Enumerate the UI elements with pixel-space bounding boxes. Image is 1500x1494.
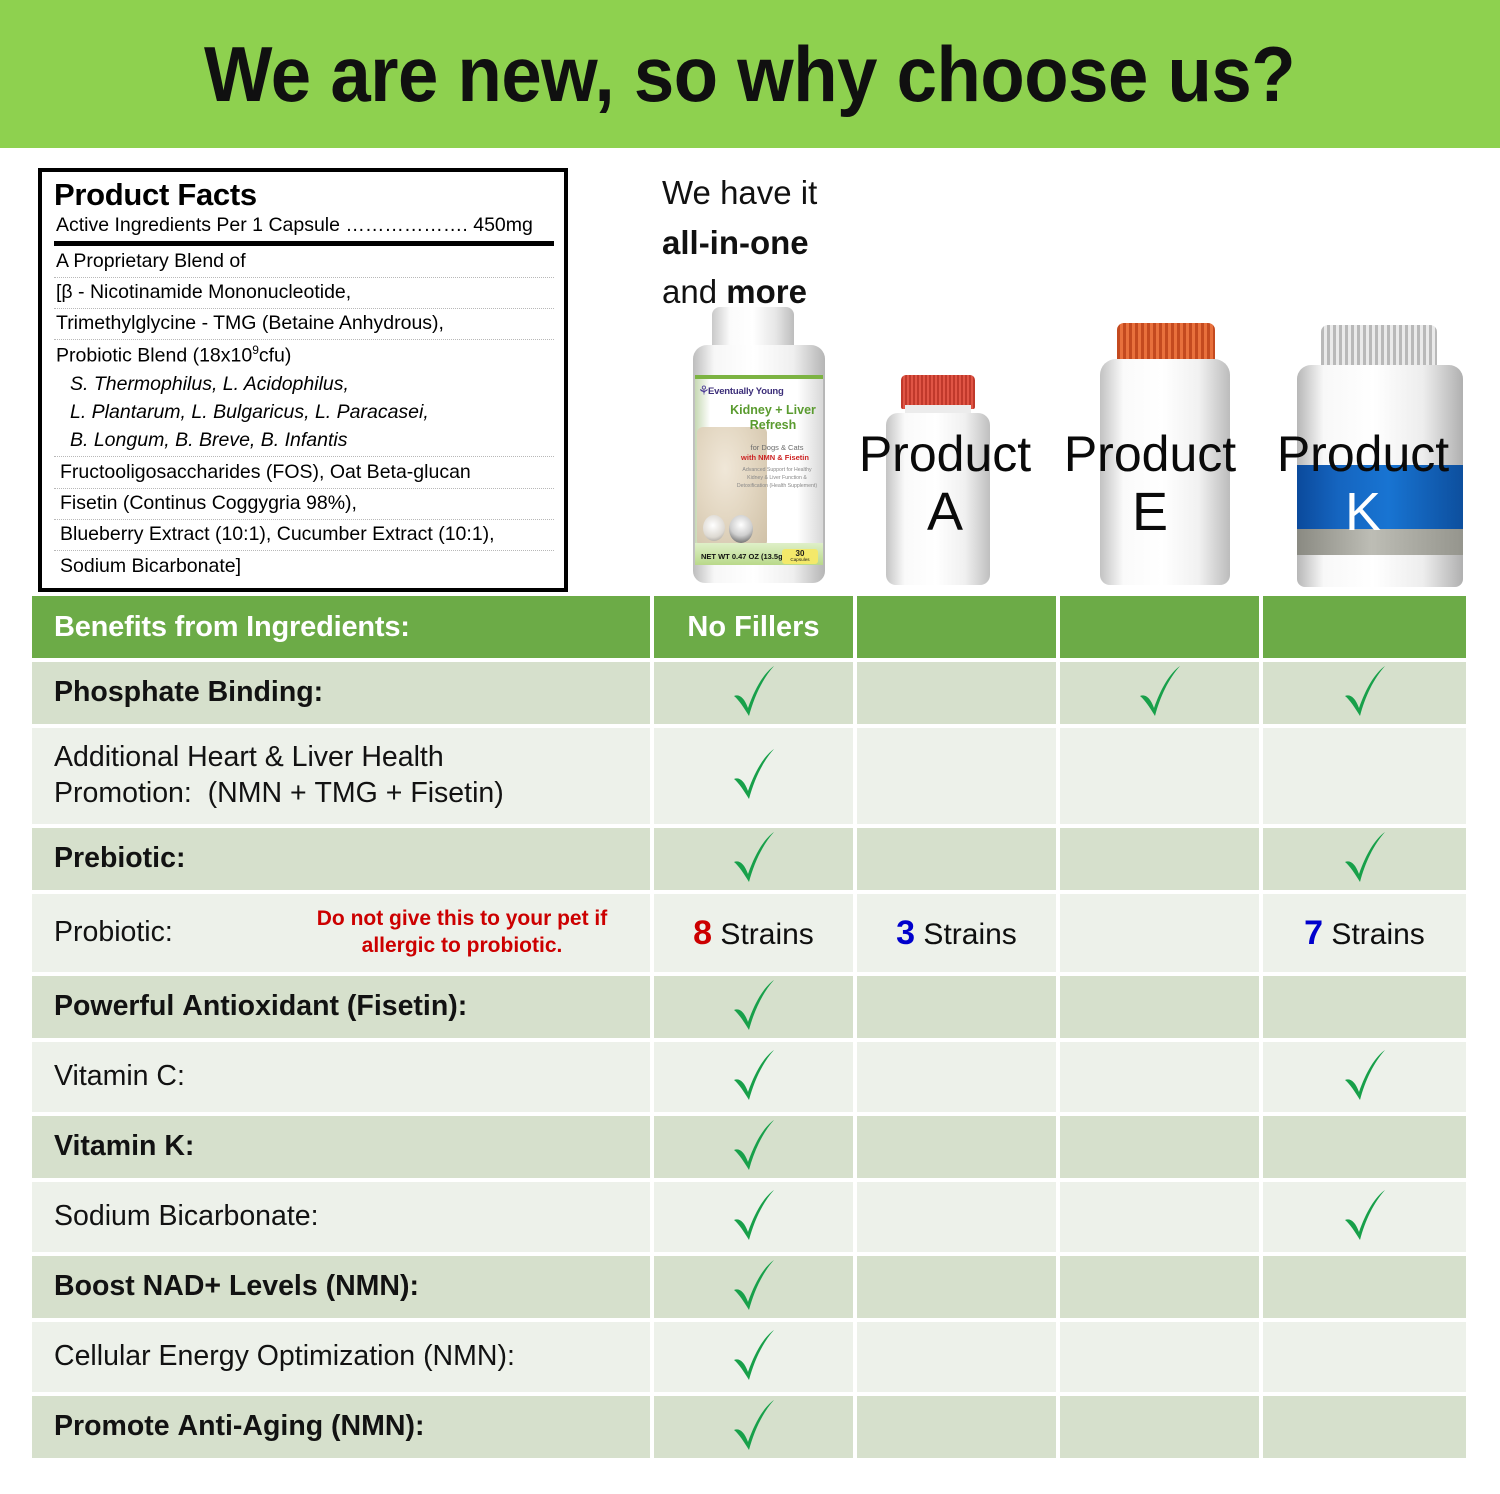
table-row: Sodium Bicarbonate:: [32, 1182, 1466, 1252]
row-label: Probiotic:: [54, 915, 173, 951]
row-label-cell: Promote Anti-Aging (NMN):: [32, 1396, 654, 1458]
row-label-cell: Probiotic:Do not give this to your pet i…: [32, 894, 654, 972]
product-facts-serving: Active Ingredients Per 1 Capsule ……………….…: [54, 213, 554, 240]
checkmark-icon: [1134, 664, 1186, 722]
row-cell-col4: [1263, 728, 1466, 824]
bottle-label: ⚘ Eventually Young Kidney + Liver Refres…: [695, 375, 823, 565]
label-net-weight: NET WT 0.47 OZ (13.5g): [701, 552, 785, 561]
table-row: Additional Heart & Liver HealthPromotion…: [32, 728, 1466, 824]
row-cell-col2: 3 Strains: [857, 894, 1060, 972]
product-facts-box: Product Facts Active Ingredients Per 1 C…: [38, 168, 568, 592]
row-cell-col4: [1263, 1116, 1466, 1178]
row-cell-col4: [1263, 1256, 1466, 1318]
table-row: Powerful Antioxidant (Fisetin):: [32, 976, 1466, 1038]
facts-strain-line-2: L. Plantarum, L. Bulgaricus, L. Paracase…: [54, 397, 554, 425]
product-k-letter: K: [1263, 479, 1463, 547]
product-k-word: Product: [1263, 429, 1463, 479]
row-cell-col1: [654, 728, 857, 824]
checkmark-icon: [728, 1258, 780, 1316]
row-cell-col2: [857, 1322, 1060, 1392]
checkmark-icon: [1339, 1188, 1391, 1246]
row-cell-col3: [1060, 976, 1263, 1038]
hero-copy: We have it all-in-one and more: [662, 168, 817, 317]
row-label: Additional Heart & Liver HealthPromotion…: [54, 740, 504, 811]
facts-strain-line-3: B. Longum, B. Breve, B. Infantis: [54, 426, 554, 457]
product-e-letter: E: [1060, 479, 1240, 547]
row-cell-col2: [857, 828, 1060, 890]
row-label: Prebiotic:: [54, 841, 185, 877]
facts-line-probiotic-blend: Probiotic Blend (18x109cfu): [54, 340, 554, 369]
row-label-cell: Additional Heart & Liver HealthPromotion…: [32, 728, 654, 824]
row-label-cell: Vitamin C:: [32, 1042, 654, 1112]
product-name-line2: Refresh: [750, 418, 797, 432]
checkmark-icon: [728, 978, 780, 1036]
strain-number: 3: [896, 914, 915, 952]
bottle-a-cap: [901, 375, 975, 409]
row-label: Promote Anti-Aging (NMN):: [54, 1409, 424, 1445]
strain-unit: Strains: [712, 918, 814, 951]
product-name: Kidney + Liver Refresh: [727, 403, 819, 434]
hero-line-3-bold: more: [726, 273, 807, 310]
table-header-row: Benefits from Ingredients: No Fillers: [32, 596, 1466, 658]
row-cell-col3: [1060, 1042, 1263, 1112]
checkmark-icon: [728, 664, 780, 722]
row-cell-col2: [857, 1116, 1060, 1178]
checkmark-icon: [1339, 664, 1391, 722]
row-cell-col4: [1263, 1042, 1466, 1112]
header-banner: We are new, so why choose us?: [0, 0, 1500, 148]
row-cell-col2: [857, 1182, 1060, 1252]
row-label-cell: Sodium Bicarbonate:: [32, 1182, 654, 1252]
row-cell-col1: [654, 1116, 857, 1178]
strain-number: 8: [693, 914, 712, 952]
page-title: We are new, so why choose us?: [204, 29, 1295, 120]
row-cell-col3: [1060, 1116, 1263, 1178]
hero-line-2: all-in-one: [662, 218, 817, 268]
capsule-count-unit: Capsules: [782, 558, 818, 563]
facts-line-sodium-bicarb: Sodium Bicarbonate]: [54, 551, 554, 581]
facts-line-tmg: Trimethylglycine - TMG (Betaine Anhydrou…: [54, 309, 554, 340]
row-cell-col4: [1263, 828, 1466, 890]
probiotic-cfu-text: cfu): [259, 344, 292, 366]
row-cell-col2: [857, 976, 1060, 1038]
row-label: Vitamin C:: [54, 1059, 185, 1095]
probiotic-warning: Do not give this to your pet if allergic…: [282, 906, 642, 960]
row-cell-col4: [1263, 1322, 1466, 1392]
product-name-line1: Kidney + Liver: [730, 403, 816, 417]
row-label-cell: Prebiotic:: [32, 828, 654, 890]
row-cell-col2: [857, 728, 1060, 824]
table-row: Vitamin K:: [32, 1116, 1466, 1178]
label-audience: for Dogs & Cats: [735, 443, 819, 452]
row-cell-col1: [654, 1182, 857, 1252]
checkmark-icon: [728, 1328, 780, 1386]
header-col-product-e: [1060, 596, 1263, 658]
row-cell-col2: [857, 1396, 1060, 1458]
row-label: Vitamin K:: [54, 1129, 194, 1165]
product-e-label: Product E: [1060, 429, 1240, 547]
row-cell-col3: [1060, 894, 1263, 972]
probiotic-blend-text: Probiotic Blend (18x10: [56, 344, 252, 366]
facts-line-fisetin: Fisetin (Continus Coggygria 98%),: [54, 489, 554, 520]
checkmark-icon: [728, 1188, 780, 1246]
row-cell-col1: [654, 1322, 857, 1392]
row-cell-col4: [1263, 662, 1466, 724]
row-cell-col2: [857, 1256, 1060, 1318]
row-label: Sodium Bicarbonate:: [54, 1199, 319, 1235]
table-row: Probiotic:Do not give this to your pet i…: [32, 894, 1466, 972]
row-label-cell: Cellular Energy Optimization (NMN):: [32, 1322, 654, 1392]
row-cell-col3: [1060, 1256, 1263, 1318]
checkmark-icon: [1339, 830, 1391, 888]
strain-count: 8 Strains: [693, 914, 814, 953]
label-capsule-count: 30Capsules: [782, 549, 818, 564]
table-row: Boost NAD+ Levels (NMN):: [32, 1256, 1466, 1318]
checkmark-icon: [728, 1048, 780, 1106]
header-col-product-k: [1263, 596, 1466, 658]
row-cell-col1: [654, 662, 857, 724]
row-cell-col4: [1263, 1182, 1466, 1252]
header-col-product-a: [857, 596, 1060, 658]
label-fine-print: Advanced Support for Healthy Kidney & Li…: [735, 467, 819, 490]
row-label-cell: Boost NAD+ Levels (NMN):: [32, 1256, 654, 1318]
table-row: Vitamin C:: [32, 1042, 1466, 1112]
checkmark-icon: [728, 747, 780, 805]
table-row: Promote Anti-Aging (NMN):: [32, 1396, 1466, 1458]
row-cell-col3: [1060, 1322, 1263, 1392]
label-with-nmn: with NMN & Fisetin: [731, 453, 819, 462]
header-col-our-product: No Fillers: [654, 596, 857, 658]
row-cell-col4: [1263, 976, 1466, 1038]
row-cell-col1: 8 Strains: [654, 894, 857, 972]
row-label-cell: Phosphate Binding:: [32, 662, 654, 724]
checkmark-icon: [1339, 1048, 1391, 1106]
row-label: Powerful Antioxidant (Fisetin):: [54, 989, 467, 1025]
row-cell-col4: [1263, 1396, 1466, 1458]
strain-count: 7 Strains: [1304, 914, 1425, 953]
row-cell-col1: [654, 1396, 857, 1458]
row-label-cell: Powerful Antioxidant (Fisetin):: [32, 976, 654, 1038]
product-facts-title: Product Facts: [54, 178, 554, 213]
hero-bottles-area: We have it all-in-one and more ⚘ Eventua…: [655, 165, 1475, 585]
table-row: Phosphate Binding:: [32, 662, 1466, 724]
facts-line-blend: A Proprietary Blend of: [54, 246, 554, 277]
checkmark-icon: [728, 1398, 780, 1456]
bottle-eventually-young: ⚘ Eventually Young Kidney + Liver Refres…: [685, 307, 835, 585]
comparison-table: Benefits from Ingredients: No Fillers Ph…: [32, 596, 1466, 1462]
facts-strain-line-1: S. Thermophilus, L. Acidophilus,: [54, 369, 554, 397]
row-cell-col1: [654, 1042, 857, 1112]
facts-line-fos: Fructooligosaccharides (FOS), Oat Beta-g…: [54, 457, 554, 488]
row-cell-col1: [654, 828, 857, 890]
row-label: Boost NAD+ Levels (NMN):: [54, 1269, 419, 1305]
strain-count: 3 Strains: [896, 914, 1017, 953]
row-cell-col1: [654, 1256, 857, 1318]
product-a-label: Product A: [855, 429, 1035, 547]
product-a-word: Product: [855, 429, 1035, 479]
row-label-cell: Vitamin K:: [32, 1116, 654, 1178]
strain-unit: Strains: [1323, 918, 1425, 951]
facts-line-extracts: Blueberry Extract (10:1), Cucumber Extra…: [54, 520, 554, 551]
row-cell-col2: [857, 1042, 1060, 1112]
table-row: Prebiotic:: [32, 828, 1466, 890]
brand-name: Eventually Young: [708, 386, 784, 397]
row-label: Cellular Energy Optimization (NMN):: [54, 1339, 515, 1375]
strain-unit: Strains: [915, 918, 1017, 951]
row-cell-col3: [1060, 1396, 1263, 1458]
checkmark-icon: [728, 830, 780, 888]
facts-line-nmn: [β - Nicotinamide Mononucleotide,: [54, 278, 554, 309]
row-cell-col3: [1060, 1182, 1263, 1252]
row-cell-col2: [857, 662, 1060, 724]
row-cell-col1: [654, 976, 857, 1038]
bottle-k-cap: [1321, 325, 1437, 369]
checkmark-icon: [728, 1118, 780, 1176]
infographic-page: We are new, so why choose us? Product Fa…: [0, 0, 1500, 1494]
row-cell-col3: [1060, 828, 1263, 890]
product-e-word: Product: [1060, 429, 1240, 479]
hero-line-1: We have it: [662, 168, 817, 218]
row-cell-col3: [1060, 662, 1263, 724]
strain-number: 7: [1304, 914, 1323, 952]
row-cell-col4: 7 Strains: [1263, 894, 1466, 972]
probiotic-exponent: 9: [252, 343, 259, 357]
product-facts-panel: Product Facts Active Ingredients Per 1 C…: [38, 168, 568, 622]
row-cell-col3: [1060, 728, 1263, 824]
table-row: Cellular Energy Optimization (NMN):: [32, 1322, 1466, 1392]
row-label: Phosphate Binding:: [54, 675, 323, 711]
hero-line-3-plain: and: [662, 273, 726, 310]
product-k-label: Product K: [1263, 429, 1463, 547]
table-body: Phosphate Binding:Additional Heart & Liv…: [32, 662, 1466, 1458]
product-a-letter: A: [855, 479, 1035, 547]
header-benefits-label: Benefits from Ingredients:: [32, 596, 654, 658]
